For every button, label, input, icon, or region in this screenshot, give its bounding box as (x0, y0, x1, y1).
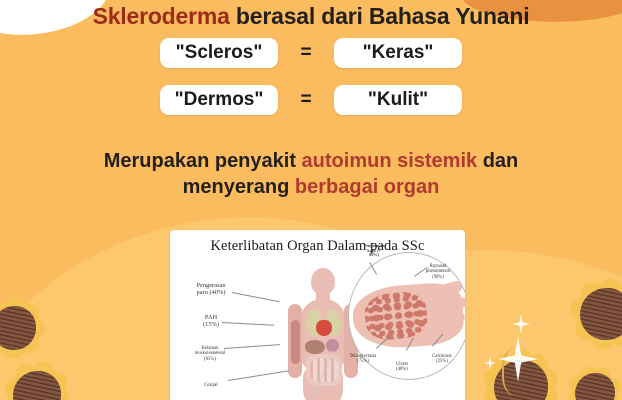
sunflower-core (0, 306, 36, 351)
label-pengerasan-paru: Pengerasan paru (40%) (178, 282, 244, 296)
sunflower-decor-5 (560, 358, 622, 400)
paragraph-line2-a: menyerang (183, 176, 295, 198)
sparkle-icon-2 (512, 314, 530, 334)
equals-sign-2: = (278, 89, 334, 111)
label-line: Pengerasan (178, 282, 244, 289)
label-line: (75%) (338, 359, 388, 364)
description-paragraph: Merupakan penyakit autoimun sistemik dan… (0, 148, 622, 201)
label-pah: PAH (15%) (184, 314, 238, 328)
label-line: (65%) (178, 357, 242, 362)
paragraph-line-1: Merupakan penyakit autoimun sistemik dan (0, 148, 622, 174)
slide-canvas: Skleroderma berasal dari Bahasa Yunani "… (0, 0, 622, 400)
meaning-pill-keras[interactable]: "Keras" (334, 38, 462, 68)
diagram-illustration: Pengerasan paru (40%) PAH (15%) Kelainan… (170, 230, 465, 400)
title-highlight: Skleroderma (93, 3, 230, 29)
label-line: (40%) (386, 367, 418, 372)
label-kelainan-muskuloskeletal: Kelainan muskuloskeletal (65%) (178, 346, 242, 362)
sunflower-decor-2 (0, 352, 80, 400)
label-line: Ginjal (186, 382, 236, 388)
equation-row-2: "Dermos" = "Kulit" (0, 85, 622, 115)
paragraph-line-2: menyerang berbagai organ (0, 174, 622, 200)
sunflower-core (13, 371, 61, 400)
label-calcinosis: Calcinosis (25%) (422, 354, 462, 365)
left-arm-muscle-shape (291, 320, 300, 364)
label-raynaud-phenomenon: Raynaud phenomenon (90%) (414, 264, 462, 280)
label-line: PAH (184, 314, 238, 321)
equals-sign-1: = (278, 42, 334, 64)
liver-shape (305, 340, 325, 354)
label-line: (25%) (422, 359, 462, 364)
meaning-pill-kulit[interactable]: "Kulit" (334, 85, 462, 115)
term-pill-dermos[interactable]: "Dermos" (160, 85, 278, 115)
title-rest: berasal dari Bahasa Yunani (230, 3, 530, 29)
label-line: 90%) (352, 253, 396, 258)
page-title: Skleroderma berasal dari Bahasa Yunani (0, 4, 622, 28)
label-ulcers: Ulcers (40%) (386, 362, 418, 373)
sunflower-core (580, 288, 622, 340)
label-ginjal: Ginjal (186, 382, 236, 388)
paragraph-line1-a: Merupakan penyakit (104, 150, 302, 172)
label-pengerasan-kulit: Pengerasan kulit (> 90%) (352, 244, 396, 258)
sunflower-core (575, 373, 614, 400)
paragraph-line2-accent: berbagai organ (295, 176, 439, 198)
label-line: (90%) (414, 275, 462, 280)
paragraph-line1-accent: autoimun sistemik (302, 150, 478, 172)
label-line: paru (40%) (178, 289, 244, 296)
term-pill-scleros[interactable]: "Scleros" (160, 38, 278, 68)
paragraph-line1-b: dan (477, 150, 518, 172)
equation-row-1: "Scleros" = "Keras" (0, 38, 622, 68)
organ-involvement-diagram-card: Keterlibatan Organ Dalam pada SSc (170, 230, 465, 400)
finger-2 (437, 297, 465, 309)
label-telangiectasia: Telangiectasia (75%) (338, 354, 388, 365)
heart-shape (316, 320, 332, 336)
label-line: (15%) (184, 321, 238, 328)
